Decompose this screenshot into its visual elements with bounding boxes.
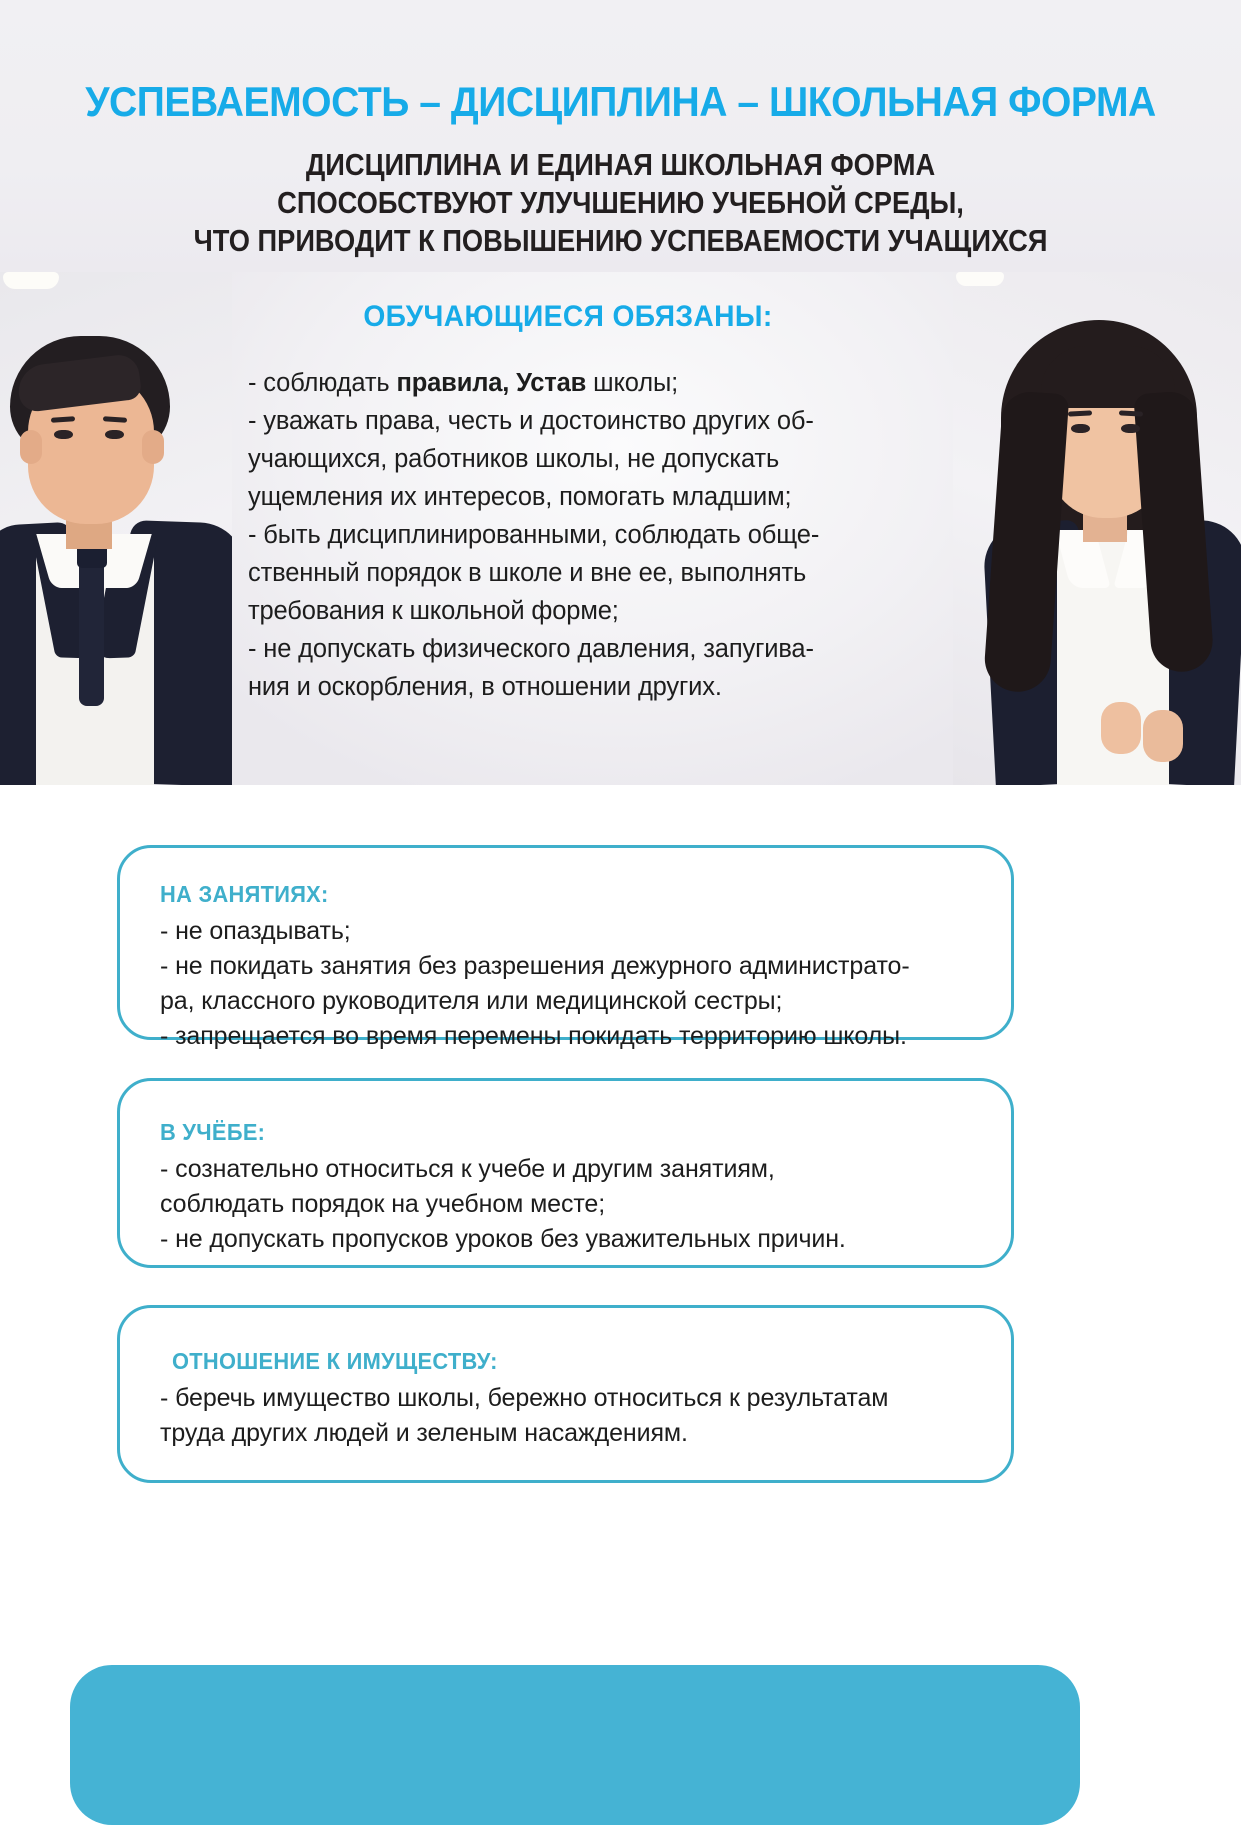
duties-line: ния и оскорбления, в отношении других. [248,668,888,706]
girl-eye-right [1121,424,1140,433]
rules-line: - запрещается во время перемены покидать… [160,1019,989,1054]
rules-box-lessons: НА ЗАНЯТИЯХ: - не опаздывать; - не покид… [117,845,1014,1040]
rules-line: - беречь имущество школы, бережно относи… [160,1381,989,1416]
schoolgirl-photo [953,272,1241,785]
duties-line-tail: школы; [586,369,678,397]
rules-box-body: - не опаздывать; - не покидать занятия б… [160,914,989,1054]
rules-box-heading: ОТНОШЕНИЕ К ИМУЩЕСТВУ: [172,1348,948,1375]
subtitle-line-1: ДИСЦИПЛИНА И ЕДИНАЯ ШКОЛЬНАЯ ФОРМА [74,146,1166,184]
duties-line: учающихся, работников школы, не допускат… [248,440,888,478]
duties-heading: ОБУЧАЮЩИЕСЯ ОБЯЗАНЫ: [267,300,869,334]
boy-teeth [3,272,59,289]
rules-box-content: В УЧЁБЕ: - сознательно относиться к учеб… [120,1081,1011,1257]
rules-line: - не опаздывать; [160,914,989,949]
duties-line: ущемления их интересов, помогать младшим… [248,478,888,516]
duties-line: - соблюдать правила, Устав школы; [248,364,888,402]
rules-box-property: ОТНОШЕНИЕ К ИМУЩЕСТВУ: - беречь имуществ… [117,1305,1014,1483]
bottom-banner-bar [70,1665,1080,1825]
girl-eye-left [1071,424,1090,433]
subtitle-line-3: ЧТО ПРИВОДИТ К ПОВЫШЕНИЮ УСПЕВАЕМОСТИ УЧ… [74,222,1166,260]
student-duties-block: ОБУЧАЮЩИЕСЯ ОБЯЗАНЫ: - соблюдать правила… [248,300,888,706]
page-title: УСПЕВАЕМОСТЬ – ДИСЦИПЛИНА – ШКОЛЬНАЯ ФОР… [43,78,1197,126]
girl-hand-left [1101,702,1141,754]
duties-line: - уважать права, честь и достоинство дру… [248,402,888,440]
subtitle-line-2: СПОСОБСТВУЮТ УЛУЧШЕНИЮ УЧЕБНОЙ СРЕДЫ, [74,184,1166,222]
boy-ear-right [142,430,164,464]
boy-eye-left [54,430,73,439]
duties-body: - соблюдать правила, Устав школы; - уваж… [248,364,888,706]
rules-line: соблюдать порядок на учебном месте; [160,1187,989,1222]
rules-box-study: В УЧЁБЕ: - сознательно относиться к учеб… [117,1078,1014,1268]
rules-line: труда других людей и зеленым насаждениям… [160,1416,989,1451]
rules-box-content: ОТНОШЕНИЕ К ИМУЩЕСТВУ: - беречь имуществ… [120,1308,1011,1451]
rules-box-content: НА ЗАНЯТИЯХ: - не опаздывать; - не покид… [120,848,1011,1054]
girl-teeth [956,272,1004,286]
boy-eye-right [105,430,124,439]
duties-line: - не допускать физического давления, зап… [248,630,888,668]
rules-line: ра, классного руководителя или медицинск… [160,984,989,1019]
rules-box-body: - сознательно относиться к учебе и други… [160,1152,989,1257]
duties-line: требования к школьной форме; [248,592,888,630]
schoolboy-photo [0,272,232,785]
rules-box-heading: НА ЗАНЯТИЯХ: [160,881,948,908]
rules-line: - не допускать пропусков уроков без уваж… [160,1222,989,1257]
boy-necktie [79,556,104,706]
page-subtitle: ДИСЦИПЛИНА И ЕДИНАЯ ШКОЛЬНАЯ ФОРМА СПОСО… [74,146,1166,260]
boy-ear-left [20,430,42,464]
rules-box-body: - беречь имущество школы, бережно относи… [160,1381,989,1451]
girl-hand-right [1143,710,1183,762]
rules-box-heading: В УЧЁБЕ: [160,1119,948,1146]
duties-line: ственный порядок в школе и вне ее, выпол… [248,554,888,592]
duties-line-bold: правила, Устав [396,369,586,397]
rules-line: - сознательно относиться к учебе и други… [160,1152,989,1187]
duties-line: - быть дисциплинированными, соблюдать об… [248,516,888,554]
duties-line-text: - соблюдать [248,369,396,397]
rules-line: - не покидать занятия без разрешения деж… [160,949,989,984]
